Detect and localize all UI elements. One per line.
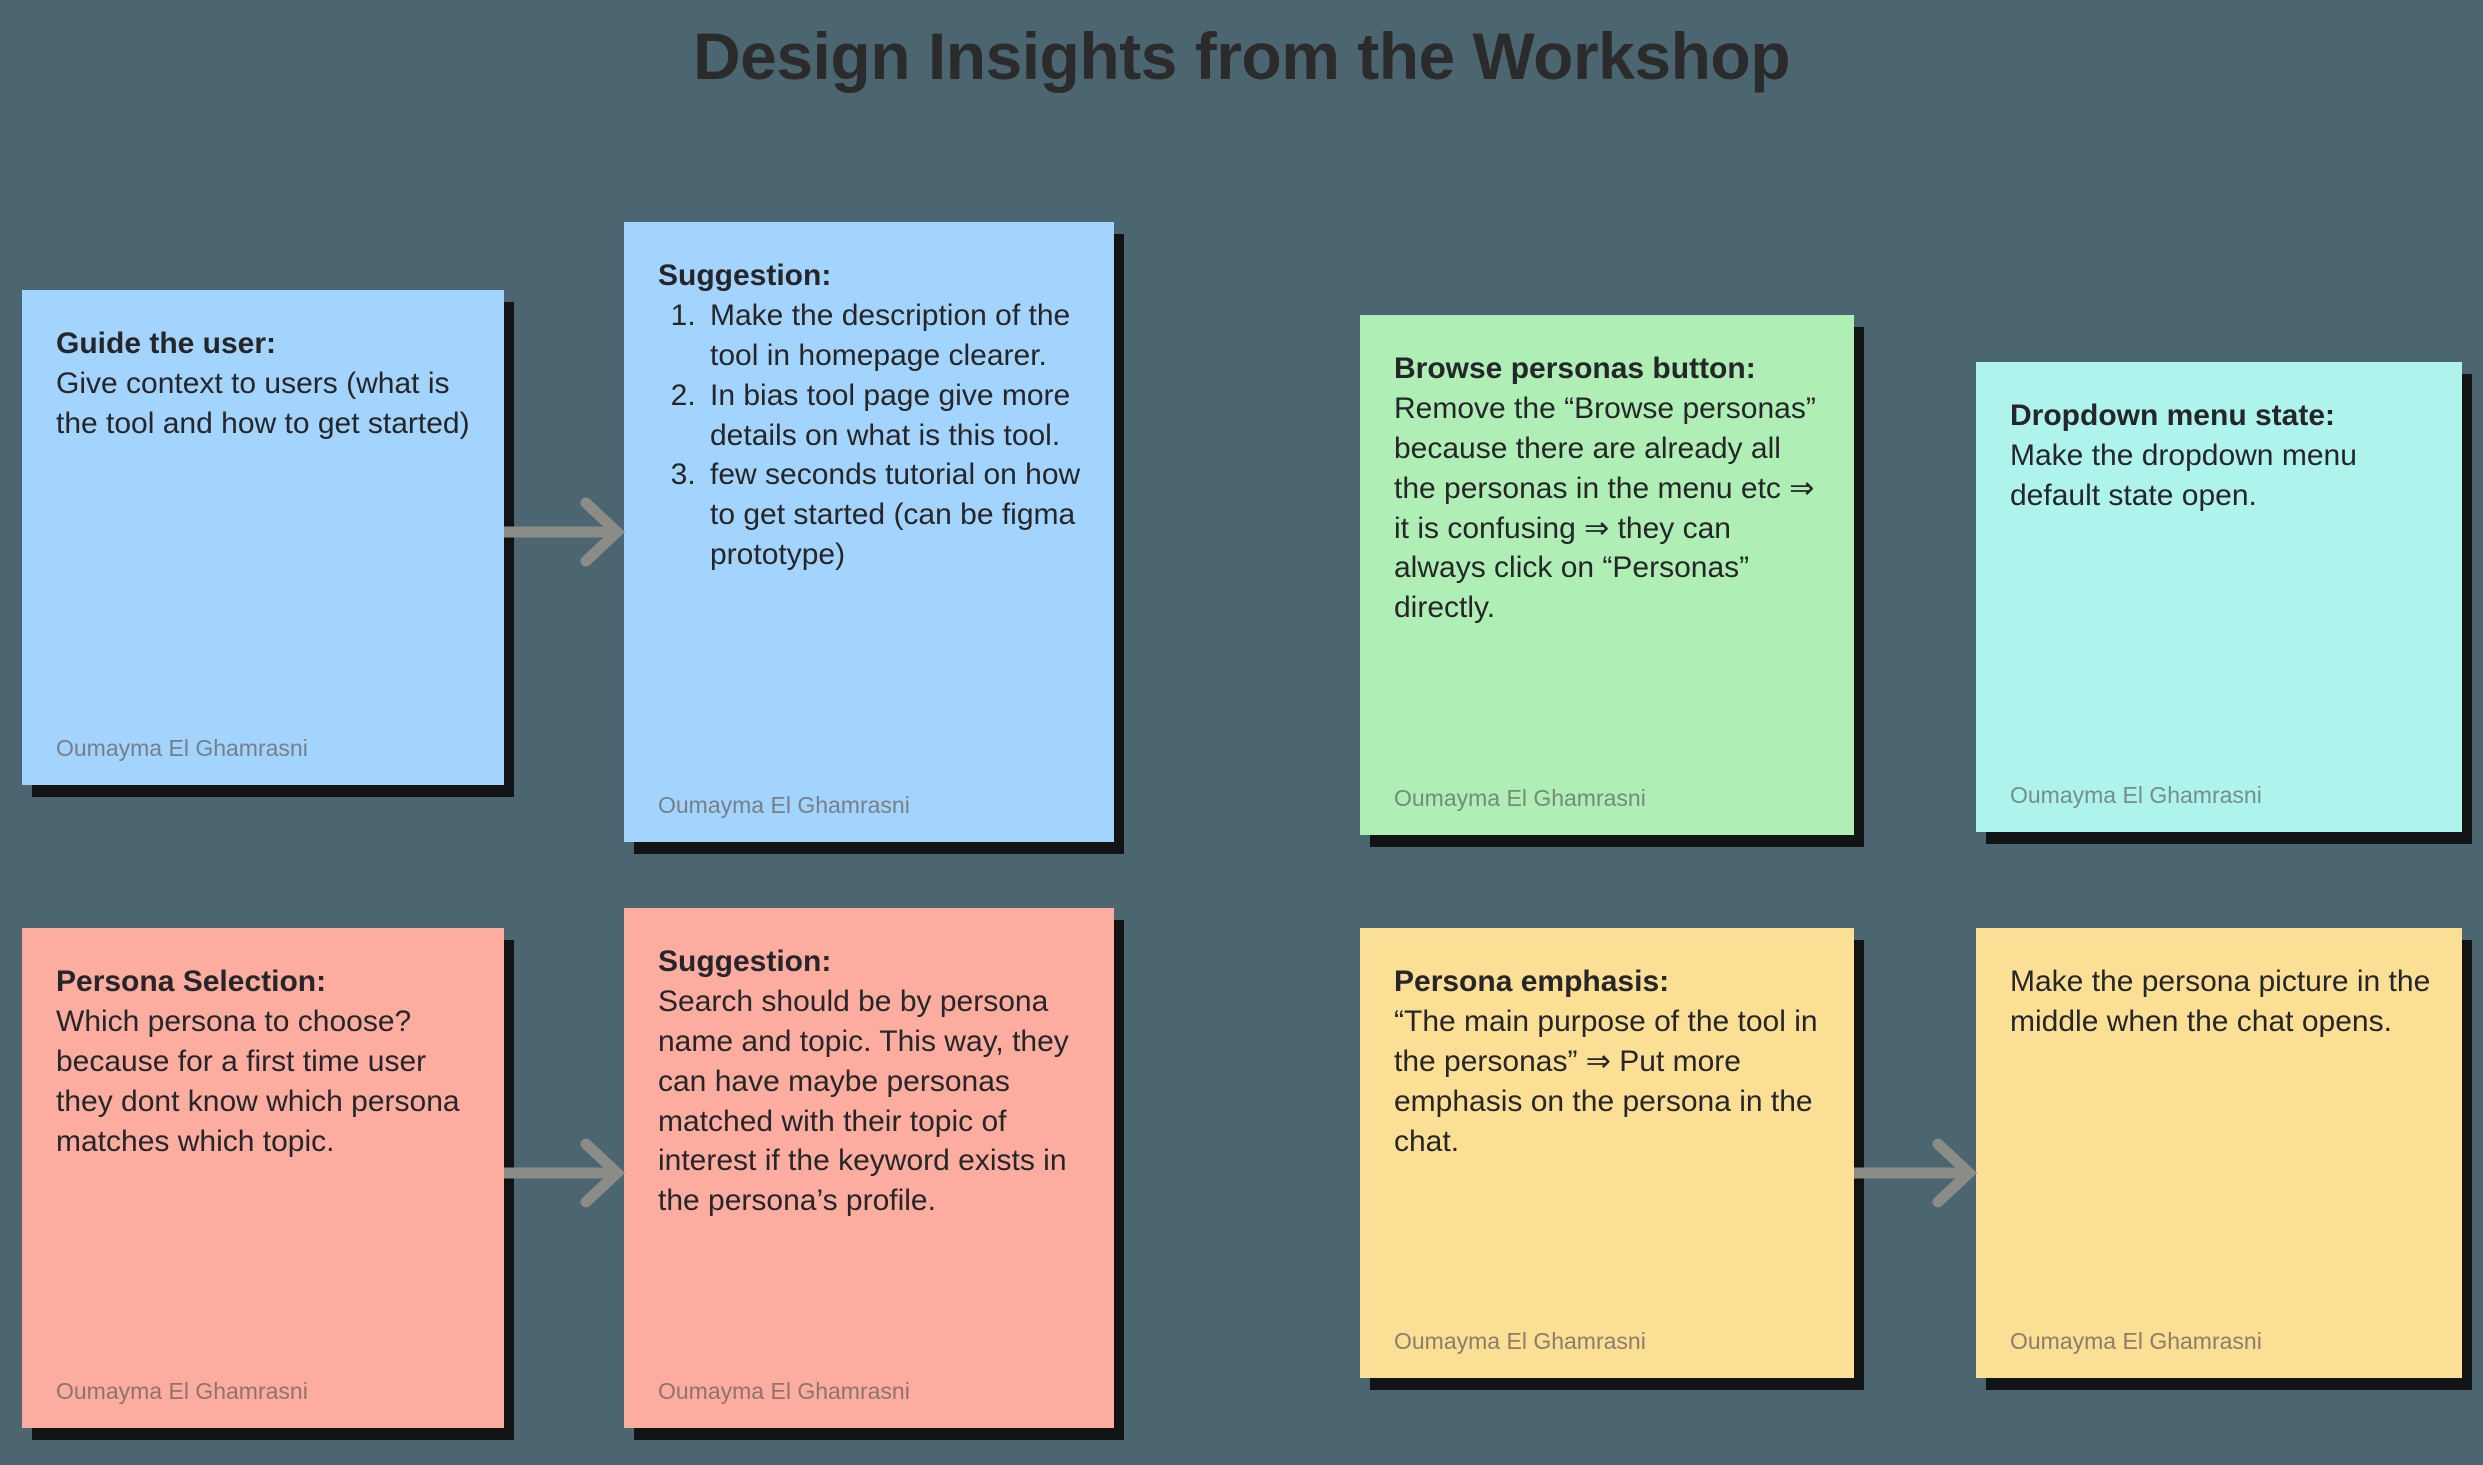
sticky-note-author: Oumayma El Ghamrasni — [658, 774, 1084, 820]
sticky-note-suggestion-one[interactable]: Suggestion: Make the description of the … — [624, 222, 1114, 842]
sticky-note-text: Browse personas button:Remove the “Brows… — [1394, 349, 1824, 767]
sticky-note-title: Persona Selection: — [56, 962, 474, 1002]
sticky-note-persona-emphasis[interactable]: Persona emphasis:“The main purpose of th… — [1360, 928, 1854, 1378]
sticky-note-title: Dropdown menu state: — [2010, 396, 2432, 436]
sticky-note-title: Persona emphasis: — [1394, 962, 1824, 1002]
sticky-note-author: Oumayma El Ghamrasni — [2010, 1310, 2432, 1356]
sticky-note-body: “The main purpose of the tool in the per… — [1394, 1005, 1818, 1158]
list-item: few seconds tutorial on how to get start… — [704, 455, 1084, 575]
sticky-note-title: Browse personas button: — [1394, 349, 1824, 389]
sticky-note-persona-selection[interactable]: Persona Selection:Which persona to choos… — [22, 928, 504, 1428]
sticky-note-body: Search should be by persona name and top… — [658, 985, 1069, 1217]
sticky-note-text: Guide the user:Give context to users (wh… — [56, 324, 474, 717]
sticky-note-title: Suggestion: — [658, 942, 1084, 982]
sticky-note-author: Oumayma El Ghamrasni — [56, 717, 474, 763]
sticky-note-text: Suggestion:Search should be by persona n… — [658, 942, 1084, 1360]
sticky-note-author: Oumayma El Ghamrasni — [658, 1360, 1084, 1406]
page-title: Design Insights from the Workshop — [0, 18, 2483, 94]
list-item: In bias tool page give more details on w… — [704, 376, 1084, 456]
arrow-right-icon-emphasis-to-picture — [1854, 1138, 1982, 1208]
sticky-note-body: Remove the “Browse personas” because the… — [1394, 392, 1816, 624]
sticky-note-body: Make the persona picture in the middle w… — [2010, 965, 2430, 1038]
sticky-note-text: Dropdown menu state:Make the dropdown me… — [2010, 396, 2432, 764]
sticky-note-text: Suggestion: Make the description of the … — [658, 256, 1084, 774]
suggestion-list: Make the description of the tool in home… — [658, 296, 1084, 575]
sticky-note-text: Make the persona picture in the middle w… — [2010, 962, 2432, 1310]
sticky-note-browse-personas[interactable]: Browse personas button:Remove the “Brows… — [1360, 315, 1854, 835]
sticky-note-dropdown-state[interactable]: Dropdown menu state:Make the dropdown me… — [1976, 362, 2462, 832]
sticky-note-suggestion-two[interactable]: Suggestion:Search should be by persona n… — [624, 908, 1114, 1428]
sticky-note-title: Guide the user: — [56, 324, 474, 364]
list-item: Make the description of the tool in home… — [704, 296, 1084, 376]
arrow-right-icon-persona-to-suggestion — [504, 1138, 630, 1208]
arrow-right-icon-guide-to-suggestion — [504, 497, 630, 567]
sticky-note-title: Suggestion: — [658, 256, 1084, 296]
whiteboard-canvas: Design Insights from the Workshop Guide … — [0, 0, 2483, 1465]
sticky-note-body: Give context to users (what is the tool … — [56, 367, 470, 440]
sticky-note-author: Oumayma El Ghamrasni — [1394, 1310, 1824, 1356]
sticky-note-text: Persona Selection:Which persona to choos… — [56, 962, 474, 1360]
sticky-note-author: Oumayma El Ghamrasni — [1394, 767, 1824, 813]
sticky-note-author: Oumayma El Ghamrasni — [2010, 764, 2432, 810]
sticky-note-author: Oumayma El Ghamrasni — [56, 1360, 474, 1406]
sticky-note-text: Persona emphasis:“The main purpose of th… — [1394, 962, 1824, 1310]
sticky-note-guide-user[interactable]: Guide the user:Give context to users (wh… — [22, 290, 504, 785]
sticky-note-persona-picture[interactable]: Make the persona picture in the middle w… — [1976, 928, 2462, 1378]
sticky-note-body: Which persona to choose? because for a f… — [56, 1005, 460, 1158]
sticky-note-body: Make the dropdown menu default state ope… — [2010, 439, 2357, 512]
